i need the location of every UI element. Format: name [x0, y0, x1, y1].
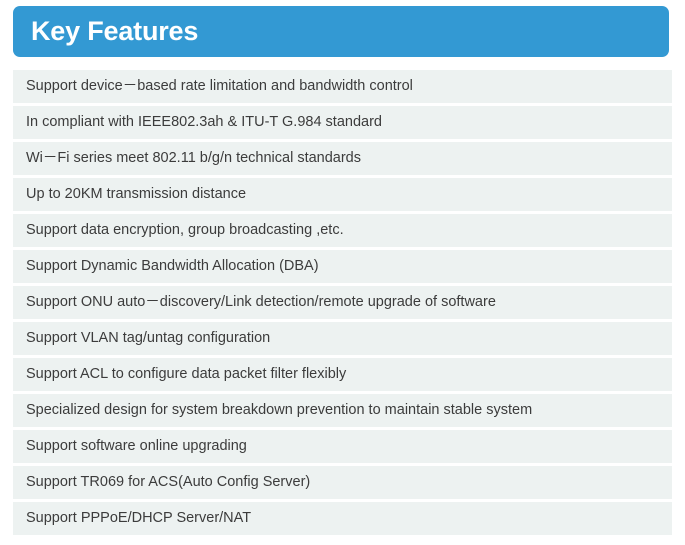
list-item-label: Support PPPoE/DHCP Server/NAT [26, 511, 251, 527]
list-item: Support ONU auto－discovery/Link detectio… [13, 286, 672, 319]
key-features-panel: Key Features Support device－based rate l… [0, 0, 685, 545]
page-title: Key Features [13, 18, 198, 45]
list-item-label: Support device－based rate limitation and… [26, 79, 413, 95]
list-item: Specialized design for system breakdown … [13, 394, 672, 427]
list-item: Support Dynamic Bandwidth Allocation (DB… [13, 250, 672, 283]
list-item-label: Support ONU auto－discovery/Link detectio… [26, 295, 496, 311]
list-item: In compliant with IEEE802.3ah & ITU-T G.… [13, 106, 672, 139]
list-item-label: In compliant with IEEE802.3ah & ITU-T G.… [26, 115, 382, 131]
list-item: Support ACL to configure data packet fil… [13, 358, 672, 391]
feature-list: Support device－based rate limitation and… [13, 70, 672, 535]
list-item: Support data encryption, group broadcast… [13, 214, 672, 247]
list-item: Support VLAN tag/untag configuration [13, 322, 672, 355]
list-item: Support device－based rate limitation and… [13, 70, 672, 103]
panel-header: Key Features [13, 6, 669, 57]
list-item-label: Support software online upgrading [26, 439, 247, 455]
list-item: Support software online upgrading [13, 430, 672, 463]
list-item: Wi－Fi series meet 802.11 b/g/n technical… [13, 142, 672, 175]
list-item-label: Support VLAN tag/untag configuration [26, 331, 270, 347]
list-item-label: Support data encryption, group broadcast… [26, 223, 344, 239]
list-item-label: Wi－Fi series meet 802.11 b/g/n technical… [26, 151, 361, 167]
list-item: Support PPPoE/DHCP Server/NAT [13, 502, 672, 535]
list-item-label: Support TR069 for ACS(Auto Config Server… [26, 475, 310, 491]
list-item: Support TR069 for ACS(Auto Config Server… [13, 466, 672, 499]
list-item-label: Specialized design for system breakdown … [26, 403, 532, 419]
list-item-label: Support Dynamic Bandwidth Allocation (DB… [26, 259, 319, 275]
list-item: Up to 20KM transmission distance [13, 178, 672, 211]
list-item-label: Up to 20KM transmission distance [26, 187, 246, 203]
list-item-label: Support ACL to configure data packet fil… [26, 367, 346, 383]
